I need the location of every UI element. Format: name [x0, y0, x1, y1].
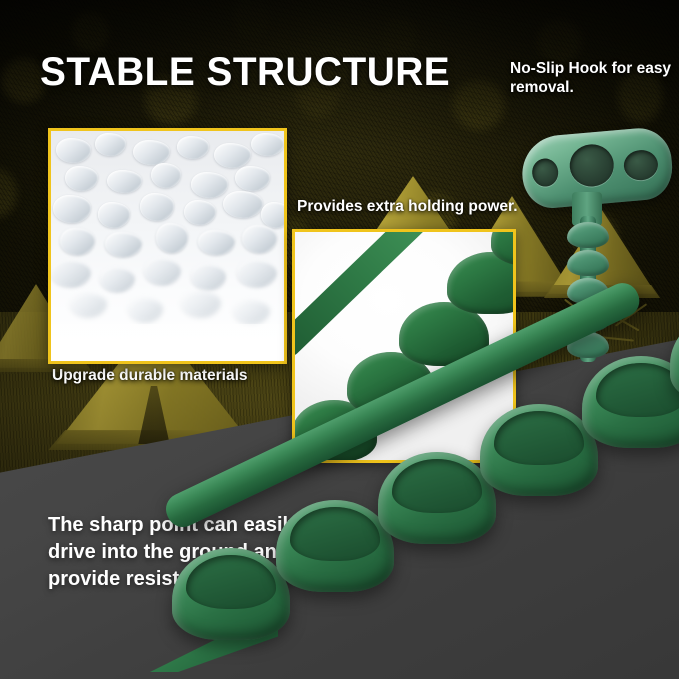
product-big-auger-stake — [150, 400, 679, 679]
caption-no-slip-hook: No-Slip Hook for easy removal. — [510, 60, 672, 98]
inset-photo-pellets — [48, 128, 287, 364]
caption-durable-materials: Upgrade durable materials — [52, 367, 248, 385]
pellets-image — [51, 131, 284, 361]
caption-holding-power: Provides extra holding power. — [297, 198, 518, 216]
page-title: STABLE STRUCTURE — [40, 52, 450, 92]
product-infographic: STABLE STRUCTURE No-Slip Hook for easy r… — [0, 0, 679, 679]
stake-flight — [480, 404, 598, 496]
